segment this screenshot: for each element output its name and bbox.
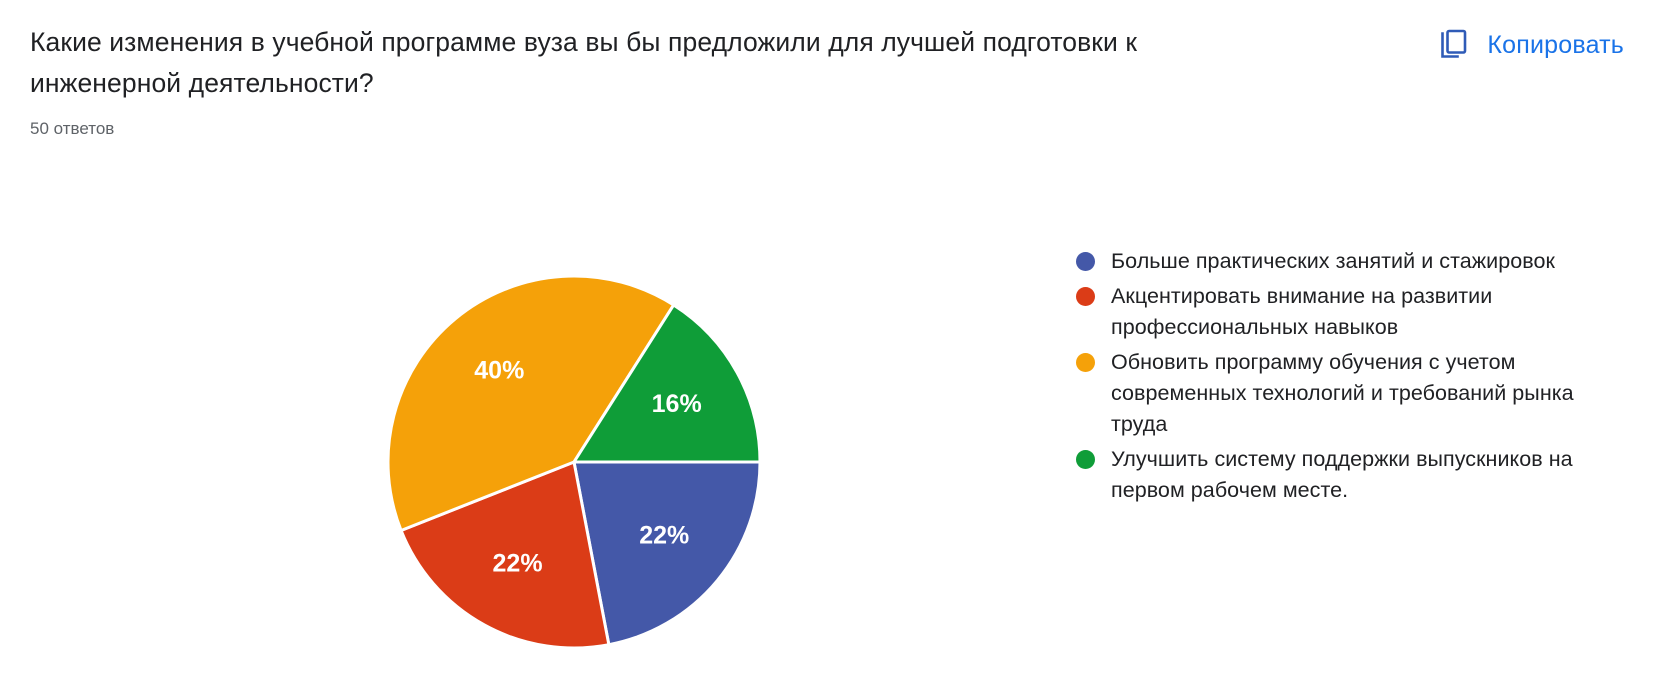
response-count: 50 ответов xyxy=(30,118,1270,140)
copy-button[interactable]: Копировать xyxy=(1429,22,1632,68)
legend-item-label: Улучшить систему поддержки выпускников н… xyxy=(1111,444,1581,506)
pie-slice-label: 16% xyxy=(652,390,702,418)
legend-color-swatch xyxy=(1076,252,1095,271)
pie-slice-label: 22% xyxy=(639,521,689,549)
page-title: Какие изменения в учебной программе вуза… xyxy=(30,22,1210,104)
chart-area: 22%22%40%16% Больше практических занятий… xyxy=(0,200,1654,696)
copy-icon xyxy=(1437,28,1471,62)
chart-legend: Больше практических занятий и стажировок… xyxy=(1076,246,1596,510)
copy-button-label: Копировать xyxy=(1487,30,1624,60)
pie-chart-svg[interactable]: 22%22%40%16% xyxy=(388,276,760,648)
legend-item-label: Больше практических занятий и стажировок xyxy=(1111,246,1555,277)
legend-item-label: Акцентировать внимание на развитии профе… xyxy=(1111,281,1581,343)
question-header: Какие изменения в учебной программе вуза… xyxy=(30,22,1270,140)
legend-color-swatch xyxy=(1076,353,1095,372)
survey-result-card: Какие изменения в учебной программе вуза… xyxy=(0,0,1654,696)
legend-item[interactable]: Акцентировать внимание на развитии профе… xyxy=(1076,281,1596,343)
legend-item[interactable]: Улучшить систему поддержки выпускников н… xyxy=(1076,444,1596,506)
legend-item-label: Обновить программу обучения с учетом сов… xyxy=(1111,347,1581,440)
pie-slice-label: 22% xyxy=(493,549,543,577)
legend-color-swatch xyxy=(1076,287,1095,306)
pie-slice-label: 40% xyxy=(474,356,524,384)
legend-item[interactable]: Обновить программу обучения с учетом сов… xyxy=(1076,347,1596,440)
legend-color-swatch xyxy=(1076,450,1095,469)
pie-chart: 22%22%40%16% xyxy=(388,276,760,648)
legend-item[interactable]: Больше практических занятий и стажировок xyxy=(1076,246,1596,277)
